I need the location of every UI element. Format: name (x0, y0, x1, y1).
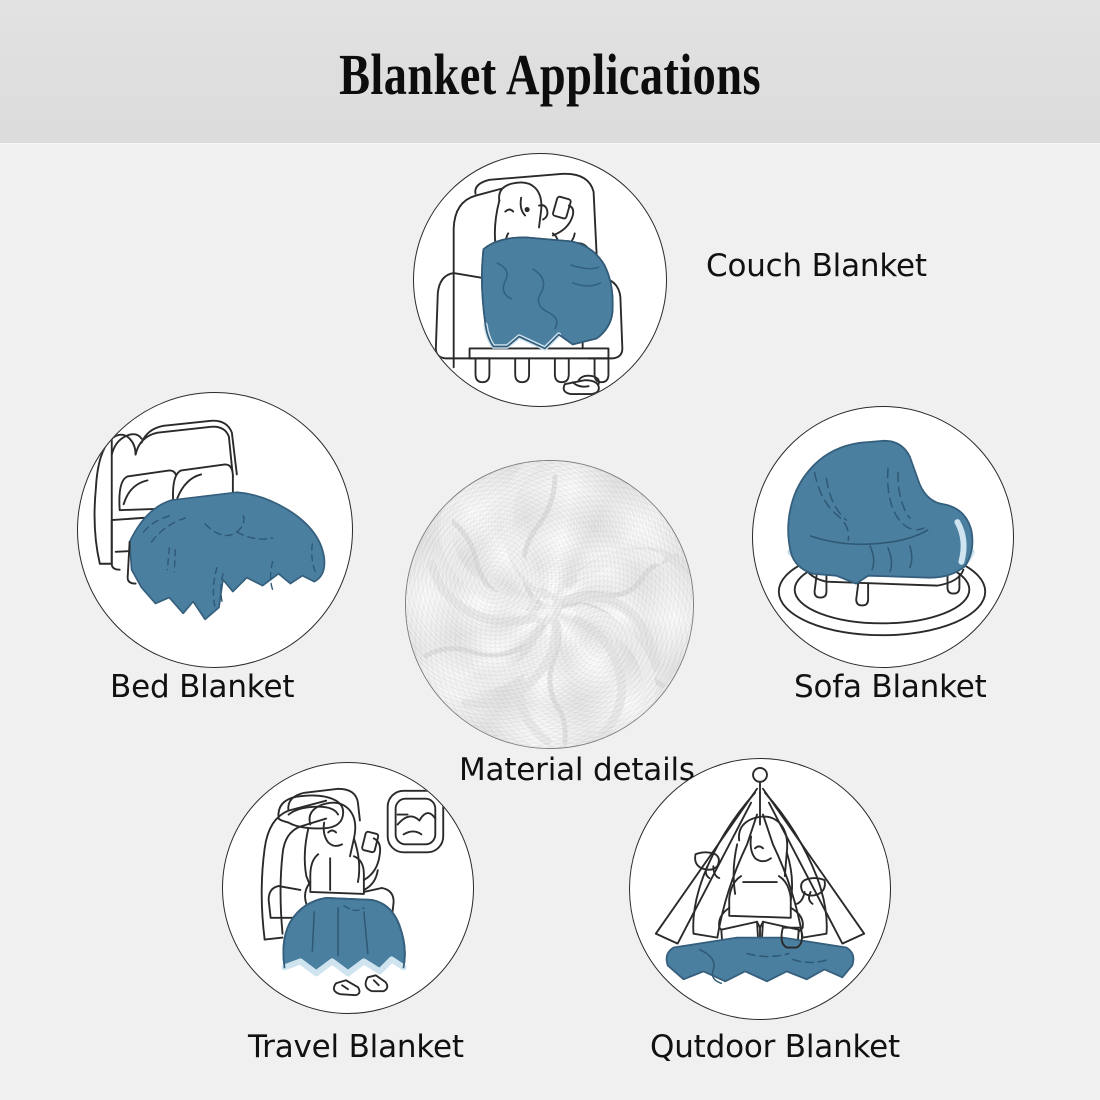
bed-blanket-illustration-icon (78, 393, 352, 667)
page-title: Blanket Applications (110, 43, 990, 107)
travel-blanket-circle (222, 762, 474, 1014)
travel-blanket-label: Travel Blanket (248, 1028, 464, 1066)
sofa-blanket-circle (752, 406, 1014, 668)
header-divider (0, 143, 1100, 146)
tile-outdoor-blanket[interactable] (629, 758, 891, 1020)
tile-bed-blanket[interactable] (77, 392, 353, 668)
outdoor-blanket-illustration-icon (630, 759, 890, 1019)
tile-material-details[interactable] (405, 460, 694, 749)
tile-sofa-blanket[interactable] (752, 406, 1014, 668)
material-details-circle (405, 460, 694, 749)
tile-couch-blanket[interactable] (413, 153, 667, 407)
bed-blanket-label: Bed Blanket (110, 668, 294, 706)
couch-blanket-illustration-icon (414, 154, 666, 406)
outdoor-blanket-label: Qutdoor Blanket (650, 1028, 900, 1066)
travel-blanket-illustration-icon (223, 763, 473, 1013)
tile-travel-blanket[interactable] (222, 762, 474, 1014)
outdoor-blanket-circle (629, 758, 891, 1020)
sofa-blanket-label: Sofa Blanket (794, 668, 987, 706)
bed-blanket-circle (77, 392, 353, 668)
fleece-grain-overlay (406, 461, 693, 748)
couch-blanket-circle (413, 153, 667, 407)
sofa-blanket-illustration-icon (753, 407, 1013, 667)
couch-blanket-label: Couch Blanket (706, 247, 927, 285)
